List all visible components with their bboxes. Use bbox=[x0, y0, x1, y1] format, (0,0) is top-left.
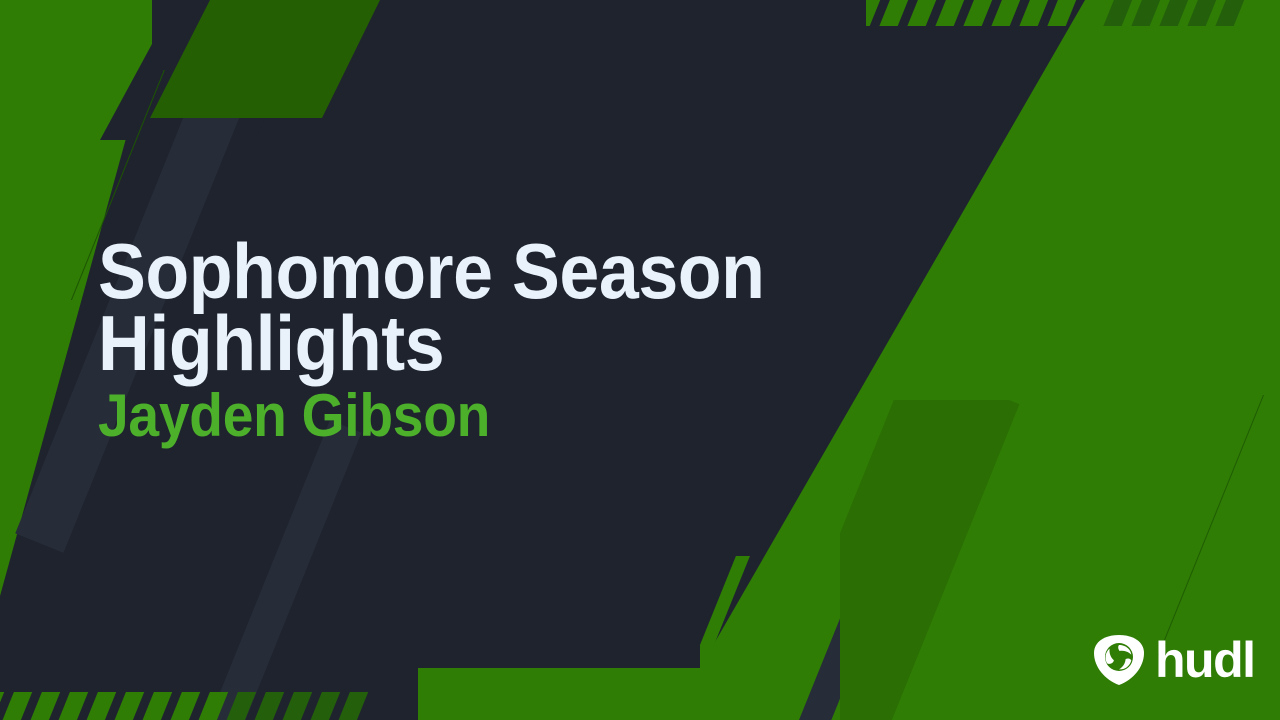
title-block: Sophomore Season Highlights Jayden Gibso… bbox=[98, 236, 858, 446]
hudl-logo-lockup: hudl bbox=[1092, 634, 1255, 686]
hudl-shield-icon bbox=[1092, 634, 1146, 686]
title-card-canvas: Sophomore Season Highlights Jayden Gibso… bbox=[0, 0, 1280, 720]
subject-name: Jayden Gibson bbox=[98, 386, 797, 446]
hudl-wordmark: hudl bbox=[1155, 635, 1255, 685]
diagonal-hatch-band-top-right bbox=[866, 0, 1280, 26]
diagonal-hatch-band-bottom-left bbox=[0, 692, 420, 720]
title-line-2: Highlights bbox=[98, 308, 797, 380]
title-line-1: Sophomore Season bbox=[98, 236, 797, 308]
bottom-right-outline-accent bbox=[828, 395, 1280, 656]
bottom-center-green-slash bbox=[700, 556, 780, 686]
